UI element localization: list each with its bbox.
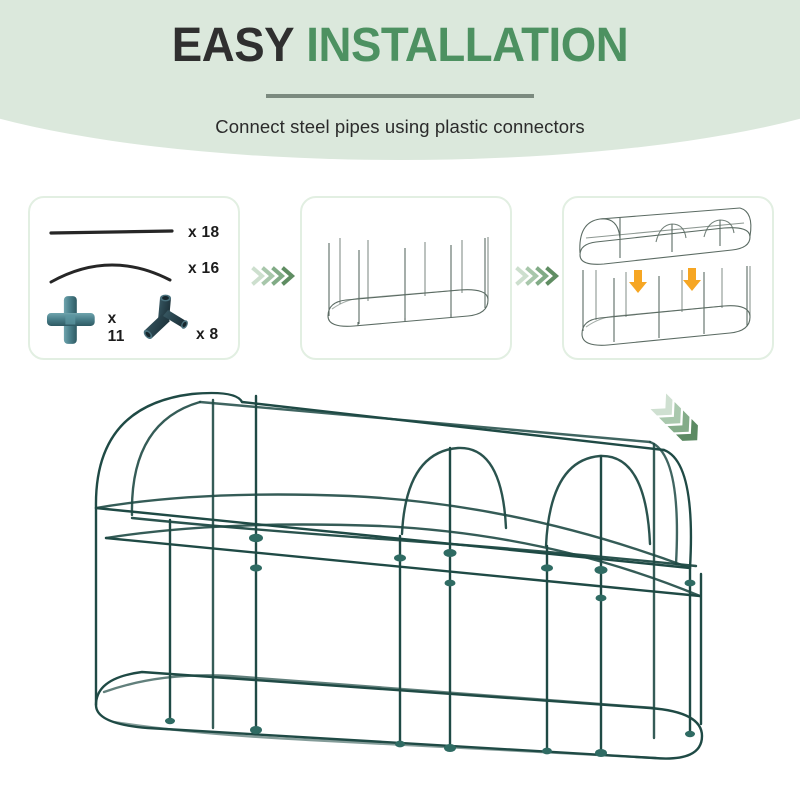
- part-row-cross-connector: x 11: [44, 292, 138, 348]
- cross-connector-icon: [44, 292, 104, 348]
- down-arrow-icon: [683, 268, 701, 291]
- page-title: EASY INSTALLATION: [20, 22, 780, 70]
- curved-pipe-icon: [48, 252, 176, 286]
- attach-canopy-illustration: [564, 198, 772, 358]
- page-title-word-primary: EASY: [172, 19, 294, 72]
- part-row-tee-connector: x 8: [138, 290, 234, 346]
- leaf-chevrons-icon: [645, 388, 707, 450]
- straight-pipe-icon: [48, 226, 176, 240]
- header-banner: EASY INSTALLATION Connect steel pipes us…: [0, 0, 800, 175]
- tee-connector-icon: [138, 290, 192, 346]
- step-box-base-frame: [300, 196, 512, 360]
- part-row-straight-pipe: x 18: [48, 224, 224, 242]
- installation-steps: x 18 x 16: [0, 196, 800, 364]
- part-row-curved-pipe: x 16: [48, 252, 224, 286]
- title-divider: [266, 94, 534, 98]
- page-subtitle: Connect steel pipes using plastic connec…: [0, 116, 800, 138]
- part-count-tee-connector: x 8: [196, 326, 218, 344]
- base-frame-illustration: [302, 198, 510, 358]
- part-count-curved-pipe: x 16: [188, 260, 219, 278]
- step-arrow-1: [250, 264, 298, 288]
- part-count-cross-connector: x 11: [108, 310, 138, 346]
- chevron-right-triple-icon: [514, 264, 562, 288]
- down-arrow-icon: [629, 270, 647, 293]
- step-box-attach-canopy: [562, 196, 774, 360]
- step-arrow-2: [514, 264, 562, 288]
- frame-joint-nodes: [165, 534, 696, 757]
- page-title-word-accent: INSTALLATION: [306, 19, 628, 72]
- step-box-parts: x 18 x 16: [28, 196, 240, 360]
- part-count-straight-pipe: x 18: [188, 224, 219, 242]
- chevron-right-triple-icon: [250, 264, 298, 288]
- leaf-chevrons-svg: [645, 388, 707, 450]
